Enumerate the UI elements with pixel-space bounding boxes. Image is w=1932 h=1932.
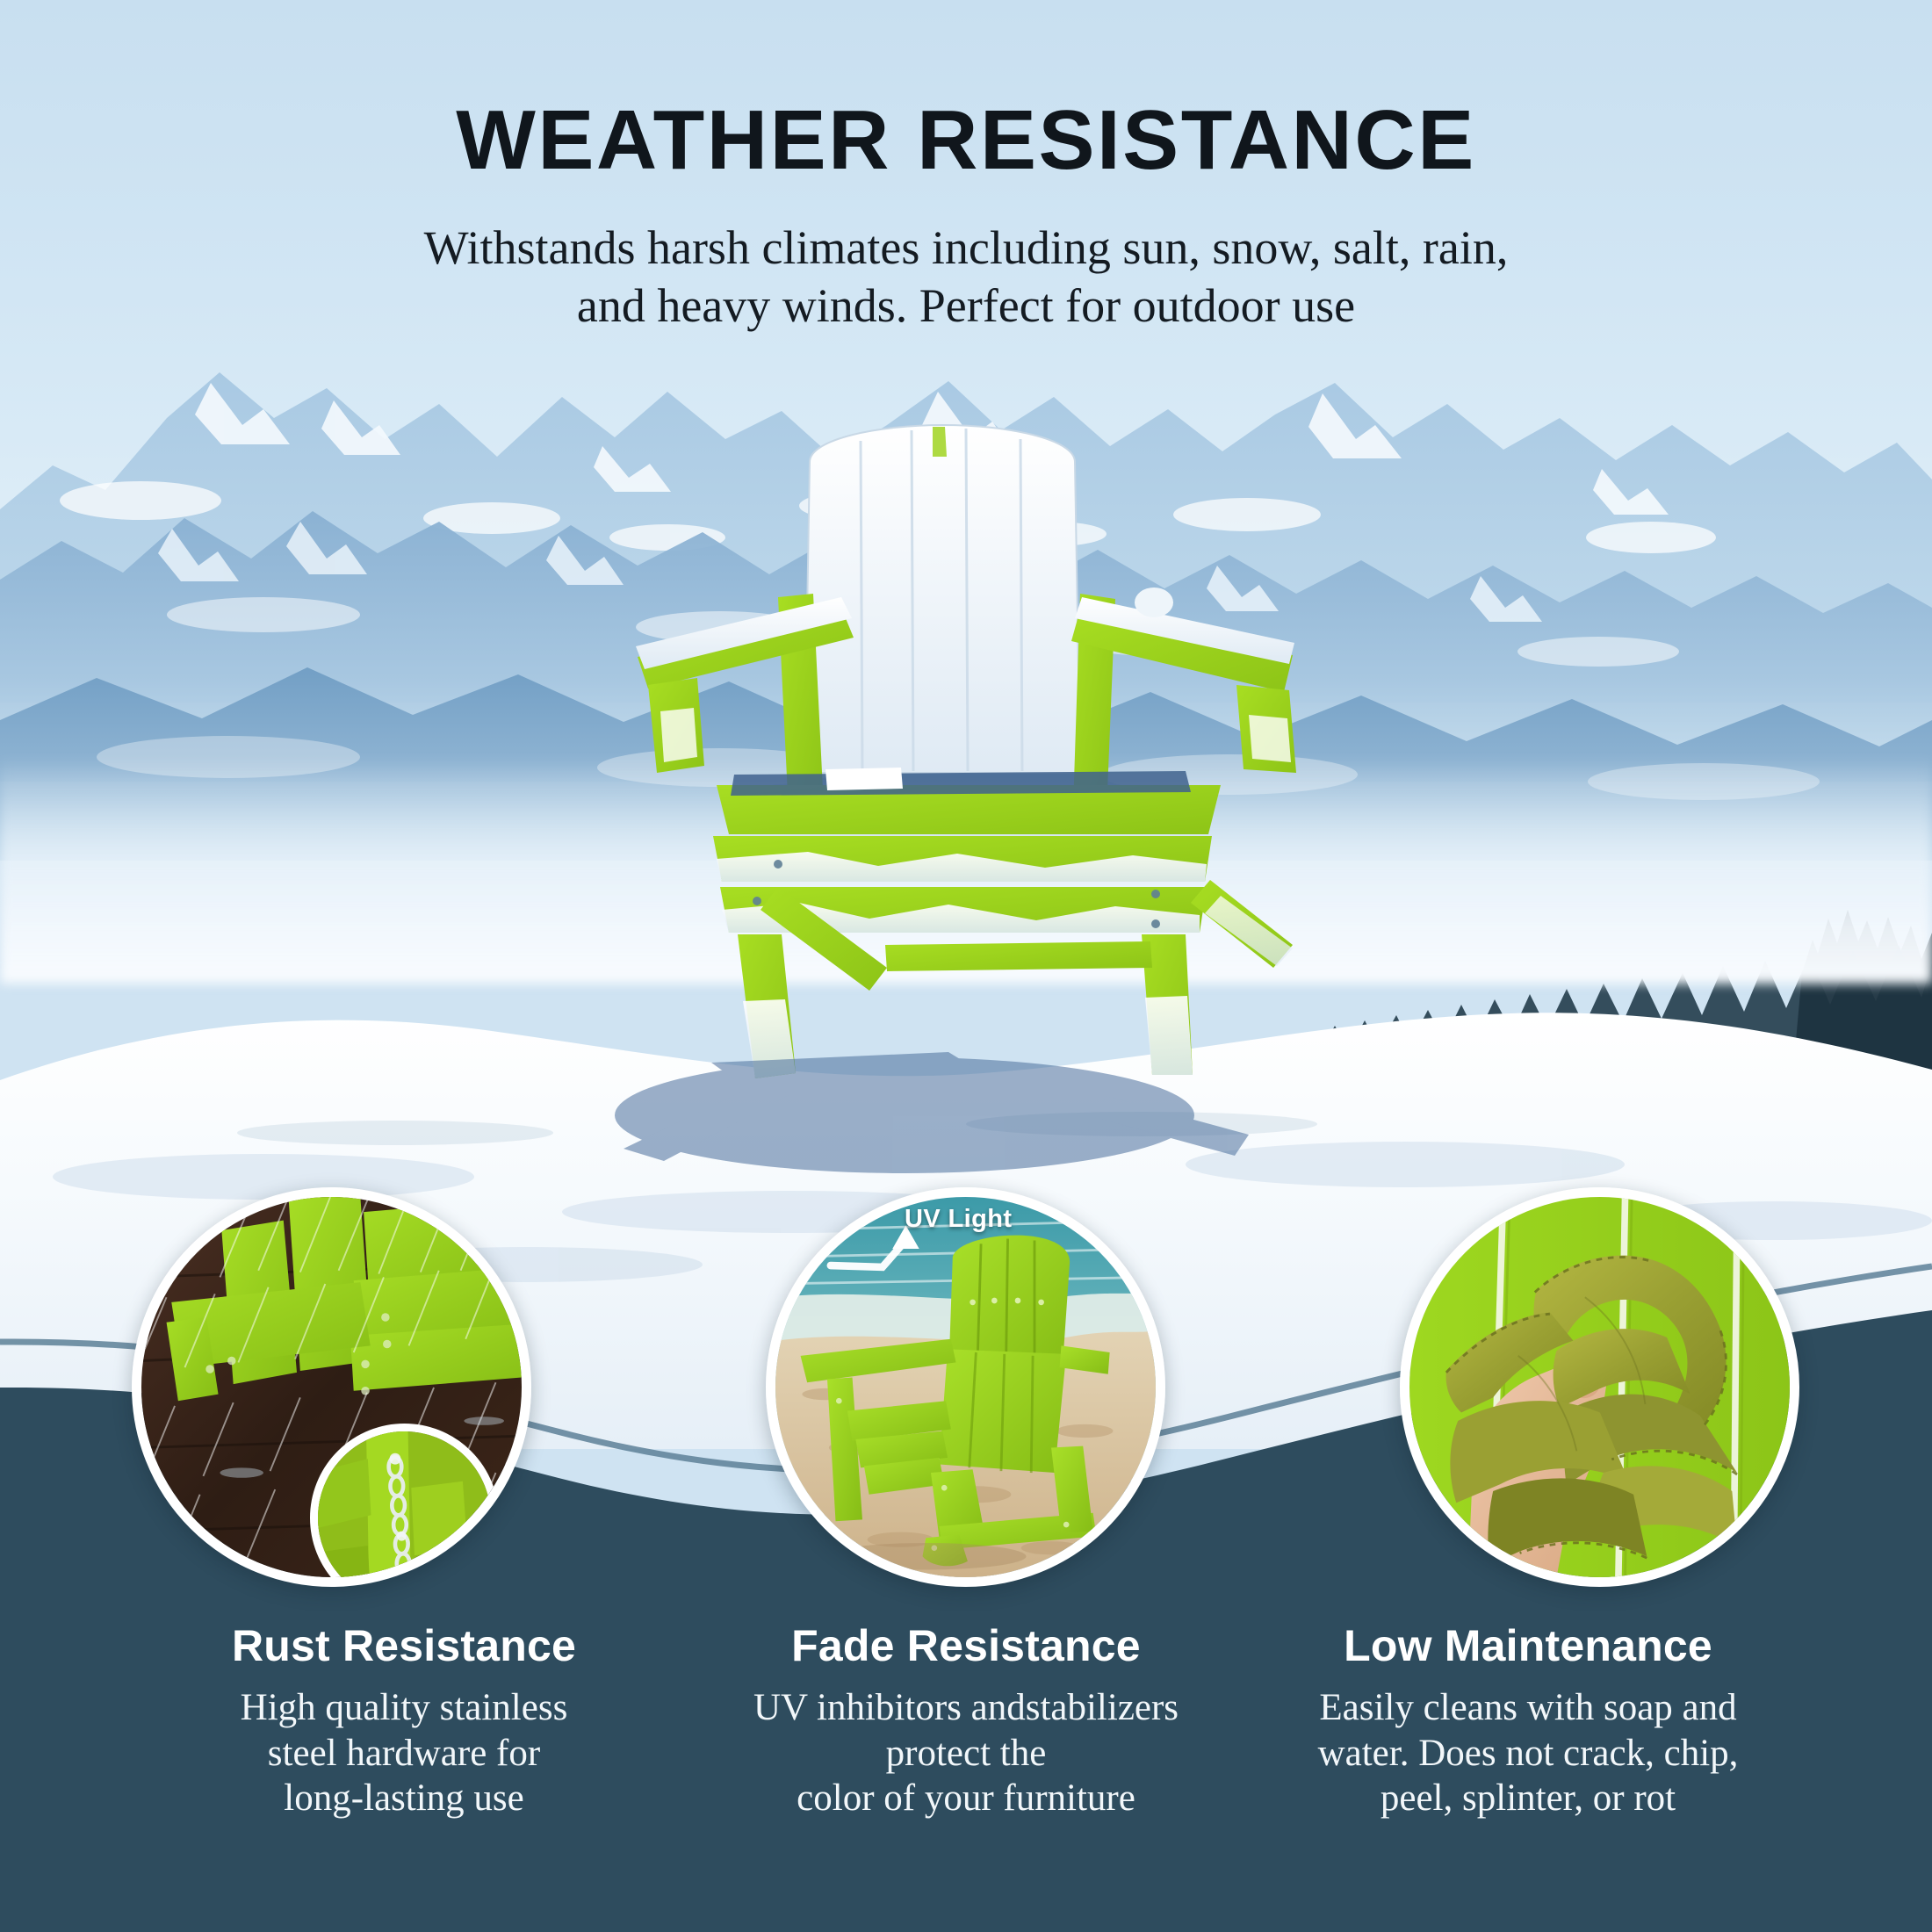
chair-shadow [492,1010,1370,1194]
desc-line-1: High quality stainless [241,1687,568,1728]
header-block: WEATHER RESISTANCE Withstands harsh clim… [0,0,1932,335]
card-rust-resistance: Rust Resistance High quality stainless s… [123,1620,685,1821]
card-description-rust-resistance: High quality stainless steel hardware fo… [139,1685,669,1821]
feature-image-rust-resistance [132,1187,531,1587]
desc-line-2: water. Does not crack, chip, [1318,1733,1739,1774]
desc-line-3: peel, splinter, or rot [1381,1777,1676,1819]
page-title: WEATHER RESISTANCE [0,0,1932,183]
inset-detail-stainless-chain [310,1424,499,1587]
feature-image-fade-resistance [766,1187,1165,1587]
card-low-maintenance: Low Maintenance Easily cleans with soap … [1247,1620,1809,1821]
desc-line-3: color of your furniture [797,1777,1135,1819]
card-description-low-maintenance: Easily cleans with soap and water. Does … [1263,1685,1793,1821]
subtitle-line-1: Withstands harsh climates including sun,… [0,220,1932,278]
card-fade-resistance: Fade Resistance UV inhibitors andstabili… [685,1620,1247,1821]
card-title-low-maintenance: Low Maintenance [1263,1620,1793,1671]
uv-light-label: UV Light [905,1205,1012,1234]
subtitle-line-2: and heavy winds. Perfect for outdoor use [0,278,1932,335]
feature-cards: Rust Resistance High quality stainless s… [0,1620,1932,1821]
card-description-fade-resistance: UV inhibitors andstabilizers protect the… [701,1685,1231,1821]
card-title-rust-resistance: Rust Resistance [139,1620,669,1671]
infographic-root: WEATHER RESISTANCE Withstands harsh clim… [0,0,1932,1932]
desc-line-3: long-lasting use [284,1777,524,1819]
desc-line-2: steel hardware for [268,1733,540,1774]
page-subtitle: Withstands harsh climates including sun,… [0,183,1932,335]
snow-covered-adirondack-chair [606,422,1335,1089]
desc-line-1: UV inhibitors andstabilizers [753,1687,1179,1728]
card-title-fade-resistance: Fade Resistance [701,1620,1231,1671]
desc-line-1: Easily cleans with soap and [1319,1687,1736,1728]
feature-image-low-maintenance [1400,1187,1799,1587]
desc-line-2: protect the [886,1733,1047,1774]
